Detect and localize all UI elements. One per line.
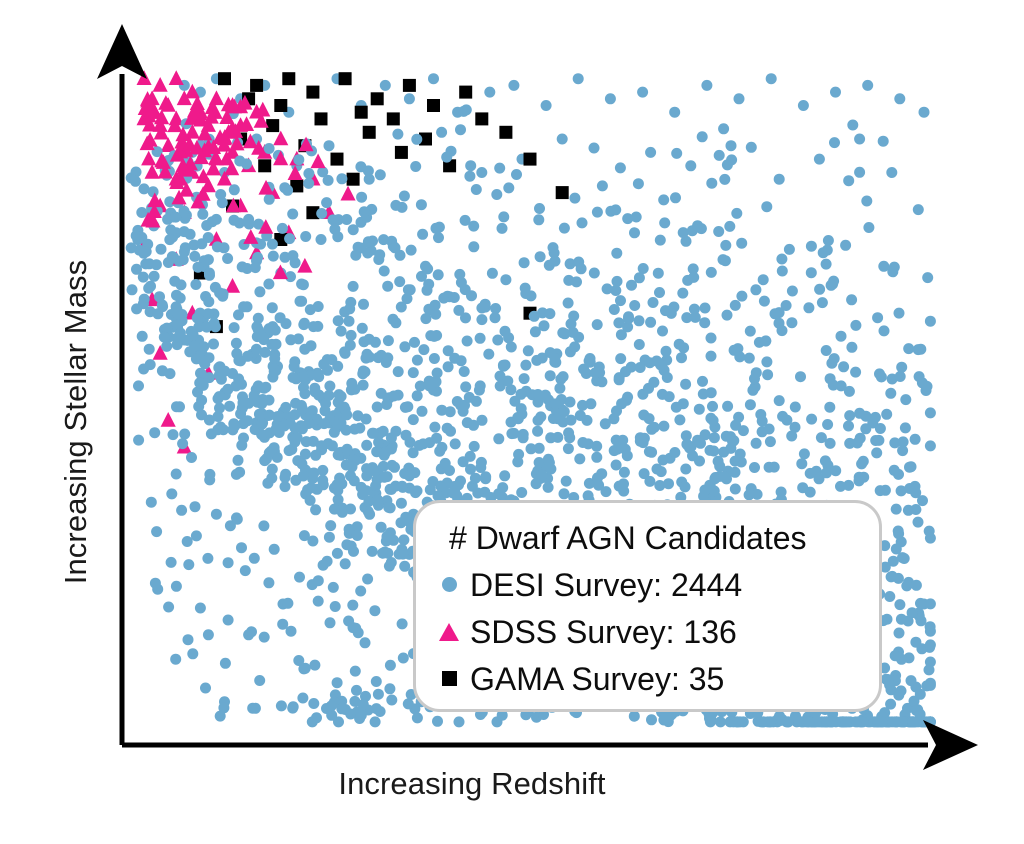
data-point-circle — [357, 368, 368, 379]
data-point-circle — [720, 255, 731, 266]
data-point-circle — [398, 534, 409, 545]
data-point-circle — [417, 229, 428, 240]
data-point-circle — [300, 449, 311, 460]
data-point-circle — [269, 544, 280, 555]
data-point-circle — [371, 703, 382, 714]
data-point-circle — [609, 304, 620, 315]
data-point-circle — [914, 371, 925, 382]
data-point-square — [274, 99, 287, 112]
data-point-circle — [907, 607, 918, 618]
data-point-circle — [262, 478, 273, 489]
data-point-circle — [577, 437, 588, 448]
data-point-circle — [622, 450, 633, 461]
data-point-circle — [871, 447, 882, 458]
data-point-circle — [659, 217, 670, 228]
data-point-circle — [271, 339, 282, 350]
data-point-circle — [557, 134, 568, 145]
data-point-circle — [698, 389, 709, 400]
data-point-circle — [615, 295, 626, 306]
data-point-circle — [133, 435, 144, 446]
data-point-circle — [850, 367, 861, 378]
data-point-circle — [293, 154, 304, 165]
data-point-circle — [563, 443, 574, 454]
data-point-circle — [224, 401, 235, 412]
data-point-circle — [541, 100, 552, 111]
data-point-square — [427, 99, 440, 112]
data-point-circle — [854, 475, 865, 486]
data-point-circle — [680, 464, 691, 475]
data-point-circle — [381, 357, 392, 368]
data-point-circle — [328, 582, 339, 593]
data-point-circle — [149, 271, 160, 282]
data-point-circle — [592, 319, 603, 330]
data-point-circle — [324, 532, 335, 543]
data-point-circle — [440, 458, 451, 469]
data-point-circle — [360, 637, 371, 648]
data-point-circle — [676, 352, 687, 363]
data-point-circle — [264, 323, 275, 334]
data-point-circle — [396, 302, 407, 313]
data-point-circle — [169, 276, 180, 287]
data-point-circle — [280, 472, 291, 483]
data-point-square — [218, 72, 231, 85]
legend-item-gama-label: GAMA Survey: 35 — [466, 662, 724, 696]
data-point-circle — [411, 134, 422, 145]
data-point-circle — [212, 424, 223, 435]
data-point-circle — [610, 204, 621, 215]
data-point-circle — [726, 140, 737, 151]
data-point-circle — [602, 283, 613, 294]
data-point-circle — [471, 184, 482, 195]
data-point-circle — [644, 413, 655, 424]
data-point-circle — [387, 460, 398, 471]
data-point-triangle — [161, 412, 176, 427]
data-point-circle — [412, 712, 423, 723]
data-point-circle — [545, 370, 556, 381]
data-point-circle — [409, 337, 420, 348]
data-point-circle — [706, 333, 717, 344]
data-point-circle — [218, 702, 229, 713]
data-point-circle — [379, 266, 390, 277]
data-point-circle — [895, 371, 906, 382]
data-point-circle — [227, 424, 238, 435]
data-point-circle — [616, 398, 627, 409]
data-point-square — [475, 112, 488, 125]
data-point-circle — [582, 415, 593, 426]
data-point-circle — [900, 422, 911, 433]
data-point-circle — [856, 458, 867, 469]
data-point-circle — [336, 326, 347, 337]
data-point-circle — [805, 468, 816, 479]
data-point-triangle — [161, 137, 176, 152]
data-point-circle — [491, 189, 502, 200]
legend-item-sdss-label: SDSS Survey: 136 — [466, 615, 737, 649]
data-point-circle — [161, 341, 172, 352]
data-point-circle — [749, 462, 760, 473]
data-point-circle — [747, 385, 758, 396]
data-point-circle — [490, 303, 501, 314]
sdss-triangle-marker-icon — [432, 615, 466, 649]
data-point-circle — [324, 140, 335, 151]
data-point-circle — [677, 288, 688, 299]
data-point-circle — [324, 381, 335, 392]
data-point-circle — [911, 580, 922, 591]
data-point-circle — [321, 197, 332, 208]
data-point-circle — [492, 335, 503, 346]
data-point-circle — [361, 463, 372, 474]
data-point-circle — [511, 169, 522, 180]
data-point-circle — [322, 354, 333, 365]
data-point-circle — [287, 209, 298, 220]
data-point-circle — [713, 456, 724, 467]
data-point-circle — [645, 147, 656, 158]
data-point-circle — [894, 599, 905, 610]
data-point-circle — [277, 223, 288, 234]
data-point-circle — [168, 429, 179, 440]
data-point-circle — [258, 520, 269, 531]
data-point-square — [258, 159, 271, 172]
data-point-circle — [876, 372, 887, 383]
data-point-circle — [369, 605, 380, 616]
data-point-circle — [386, 557, 397, 568]
data-point-circle — [474, 385, 485, 396]
data-point-circle — [383, 502, 394, 513]
data-point-circle — [270, 365, 281, 376]
data-point-circle — [296, 400, 307, 411]
data-point-circle — [133, 380, 144, 391]
data-point-circle — [326, 701, 337, 712]
data-point-circle — [722, 401, 733, 412]
data-point-circle — [193, 262, 204, 273]
data-point-circle — [438, 293, 449, 304]
data-point-circle — [894, 308, 905, 319]
data-point-circle — [590, 367, 601, 378]
data-point-circle — [756, 716, 767, 727]
data-point-circle — [906, 675, 917, 686]
data-point-circle — [127, 284, 138, 295]
data-point-circle — [626, 280, 637, 291]
data-point-circle — [751, 438, 762, 449]
data-point-circle — [250, 703, 261, 714]
data-point-circle — [449, 353, 460, 364]
data-point-circle — [418, 344, 429, 355]
data-point-circle — [297, 693, 308, 704]
data-point-circle — [355, 586, 366, 597]
data-point-circle — [404, 93, 415, 104]
x-axis-label: Increasing Redshift — [0, 766, 1024, 802]
data-point-circle — [264, 447, 275, 458]
data-point-circle — [244, 219, 255, 230]
data-point-circle — [195, 603, 206, 614]
data-point-circle — [766, 73, 777, 84]
data-point-circle — [913, 517, 924, 528]
data-point-square — [371, 92, 384, 105]
data-point-circle — [890, 650, 901, 661]
data-point-circle — [882, 674, 893, 685]
data-point-circle — [519, 373, 530, 384]
data-point-circle — [197, 209, 208, 220]
data-point-circle — [272, 411, 283, 422]
data-point-circle — [612, 276, 623, 287]
data-point-circle — [761, 356, 772, 367]
data-point-circle — [254, 409, 265, 420]
data-point-circle — [568, 311, 579, 322]
data-point-circle — [925, 598, 936, 609]
data-point-circle — [333, 494, 344, 505]
data-point-circle — [825, 438, 836, 449]
data-point-circle — [183, 559, 194, 570]
data-point-circle — [179, 206, 190, 217]
data-point-circle — [141, 246, 152, 257]
data-point-circle — [204, 270, 215, 281]
data-point-circle — [896, 614, 907, 625]
data-point-circle — [777, 325, 788, 336]
data-point-circle — [889, 716, 900, 727]
data-point-circle — [198, 355, 209, 366]
data-point-circle — [680, 379, 691, 390]
data-point-circle — [720, 240, 731, 251]
data-point-circle — [232, 514, 243, 525]
data-point-circle — [925, 680, 936, 691]
data-point-circle — [382, 531, 393, 542]
data-point-circle — [203, 629, 214, 640]
data-point-circle — [644, 357, 655, 368]
data-point-circle — [830, 87, 841, 98]
data-point-circle — [233, 309, 244, 320]
data-point-circle — [915, 598, 926, 609]
data-point-circle — [734, 93, 745, 104]
data-point-circle — [220, 658, 231, 669]
data-point-circle — [476, 314, 487, 325]
data-point-circle — [364, 352, 375, 363]
data-point-circle — [342, 444, 353, 455]
data-point-circle — [629, 300, 640, 311]
data-point-circle — [397, 618, 408, 629]
data-point-circle — [298, 471, 309, 482]
data-point-circle — [592, 472, 603, 483]
data-point-circle — [316, 208, 327, 219]
data-point-circle — [251, 344, 262, 355]
data-point-circle — [821, 467, 832, 478]
data-point-square — [315, 112, 328, 125]
data-point-circle — [379, 472, 390, 483]
data-point-circle — [770, 308, 781, 319]
data-point-circle — [264, 194, 275, 205]
data-point-circle — [388, 391, 399, 402]
data-point-circle — [151, 259, 162, 270]
data-point-circle — [336, 703, 347, 714]
data-point-circle — [361, 485, 372, 496]
data-point-circle — [697, 131, 708, 142]
data-point-circle — [566, 415, 577, 426]
data-point-circle — [380, 80, 391, 91]
data-point-circle — [250, 262, 261, 273]
data-point-circle — [257, 419, 268, 430]
data-point-circle — [847, 120, 858, 131]
data-point-circle — [921, 385, 932, 396]
data-point-circle — [678, 227, 689, 238]
data-point-circle — [498, 211, 509, 222]
data-point-circle — [152, 308, 163, 319]
data-point-circle — [722, 310, 733, 321]
data-point-circle — [854, 167, 865, 178]
data-point-circle — [208, 339, 219, 350]
data-point-circle — [148, 186, 159, 197]
data-point-circle — [520, 288, 531, 299]
data-point-circle — [730, 456, 741, 467]
data-point-circle — [708, 446, 719, 457]
data-point-circle — [543, 482, 554, 493]
data-point-circle — [233, 455, 244, 466]
data-point-circle — [429, 353, 440, 364]
data-point-circle — [591, 452, 602, 463]
data-point-circle — [861, 196, 872, 207]
data-point-circle — [784, 244, 795, 255]
data-point-circle — [399, 561, 410, 572]
data-point-circle — [371, 676, 382, 687]
data-point-circle — [414, 440, 425, 451]
data-point-circle — [843, 421, 854, 432]
data-point-circle — [352, 530, 363, 541]
data-point-circle — [348, 622, 359, 633]
data-point-circle — [746, 142, 757, 153]
data-point-circle — [881, 409, 892, 420]
data-point-circle — [885, 388, 896, 399]
data-point-circle — [429, 331, 440, 342]
data-point-circle — [476, 303, 487, 314]
data-point-circle — [144, 344, 155, 355]
data-point-circle — [313, 369, 324, 380]
data-point-square — [347, 173, 360, 186]
data-point-square — [306, 86, 319, 99]
data-point-circle — [903, 343, 914, 354]
data-point-circle — [891, 544, 902, 555]
data-point-circle — [396, 546, 407, 557]
data-point-circle — [893, 573, 904, 584]
data-point-circle — [436, 405, 447, 416]
data-point-circle — [534, 203, 545, 214]
data-point-circle — [267, 464, 278, 475]
data-point-circle — [243, 398, 254, 409]
data-point-circle — [306, 482, 317, 493]
data-point-circle — [744, 353, 755, 364]
data-point-circle — [508, 80, 519, 91]
data-point-circle — [623, 313, 634, 324]
data-point-circle — [803, 716, 814, 727]
data-point-circle — [559, 488, 570, 499]
data-point-circle — [532, 389, 543, 400]
data-point-circle — [532, 426, 543, 437]
desi-circle-marker-icon — [432, 568, 466, 602]
data-point-circle — [731, 208, 742, 219]
data-point-circle — [429, 422, 440, 433]
data-point-circle — [559, 223, 570, 234]
data-point-circle — [420, 313, 431, 324]
data-point-circle — [889, 465, 900, 476]
data-point-circle — [404, 470, 415, 481]
data-point-circle — [361, 440, 372, 451]
data-point-circle — [292, 432, 303, 443]
data-point-circle — [386, 444, 397, 455]
gama-square-marker-icon — [432, 662, 466, 696]
data-point-circle — [836, 331, 847, 342]
scatter-figure: Increasing Redshift Increasing Stellar M… — [0, 0, 1024, 844]
data-point-circle — [745, 399, 756, 410]
data-point-circle — [597, 180, 608, 191]
data-point-circle — [724, 221, 735, 232]
data-point-circle — [611, 248, 622, 259]
data-point-circle — [531, 355, 542, 366]
data-point-circle — [910, 504, 921, 515]
data-point-circle — [497, 223, 508, 234]
data-point-circle — [401, 430, 412, 441]
data-point-circle — [761, 201, 772, 212]
data-point-triangle — [169, 70, 184, 85]
y-axis-label: Increasing Stellar Mass — [48, 0, 104, 844]
data-point-circle — [329, 504, 340, 515]
data-point-circle — [838, 361, 849, 372]
legend-item-desi-label: DESI Survey: 2444 — [466, 568, 742, 602]
data-point-circle — [714, 150, 725, 161]
data-point-circle — [500, 274, 511, 285]
data-point-circle — [774, 174, 785, 185]
data-point-circle — [164, 234, 175, 245]
data-point-circle — [733, 412, 744, 423]
data-point-circle — [285, 418, 296, 429]
data-point-circle — [814, 154, 825, 165]
data-point-circle — [576, 263, 587, 274]
data-point-circle — [349, 696, 360, 707]
data-point-circle — [471, 396, 482, 407]
data-point-circle — [830, 465, 841, 476]
data-point-circle — [200, 683, 211, 694]
data-point-circle — [195, 368, 206, 379]
data-point-circle — [305, 304, 316, 315]
data-point-circle — [875, 485, 886, 496]
data-point-circle — [629, 711, 640, 722]
data-point-circle — [466, 290, 477, 301]
data-point-circle — [468, 241, 479, 252]
data-point-circle — [179, 226, 190, 237]
data-point-circle — [671, 148, 682, 159]
legend-box: # Dwarf AGN Candidates DESI Survey: 2444… — [413, 500, 882, 712]
data-point-circle — [465, 451, 476, 462]
data-point-circle — [573, 73, 584, 84]
data-point-circle — [896, 685, 907, 696]
data-point-circle — [709, 486, 720, 497]
data-point-circle — [826, 716, 837, 727]
data-point-circle — [469, 441, 480, 452]
data-point-circle — [166, 557, 177, 568]
data-point-circle — [470, 473, 481, 484]
data-point-circle — [431, 376, 442, 387]
data-point-circle — [805, 487, 816, 498]
data-point-circle — [886, 167, 897, 178]
data-point-circle — [285, 334, 296, 345]
data-point-circle — [394, 276, 405, 287]
data-point-circle — [888, 556, 899, 567]
data-point-circle — [341, 214, 352, 225]
data-point-circle — [159, 332, 170, 343]
data-point-circle — [402, 401, 413, 412]
data-point-circle — [373, 254, 384, 265]
data-point-circle — [403, 698, 414, 709]
data-point-circle — [480, 471, 491, 482]
data-point-circle — [318, 560, 329, 571]
data-point-circle — [671, 402, 682, 413]
data-point-circle — [806, 414, 817, 425]
data-point-circle — [356, 192, 367, 203]
